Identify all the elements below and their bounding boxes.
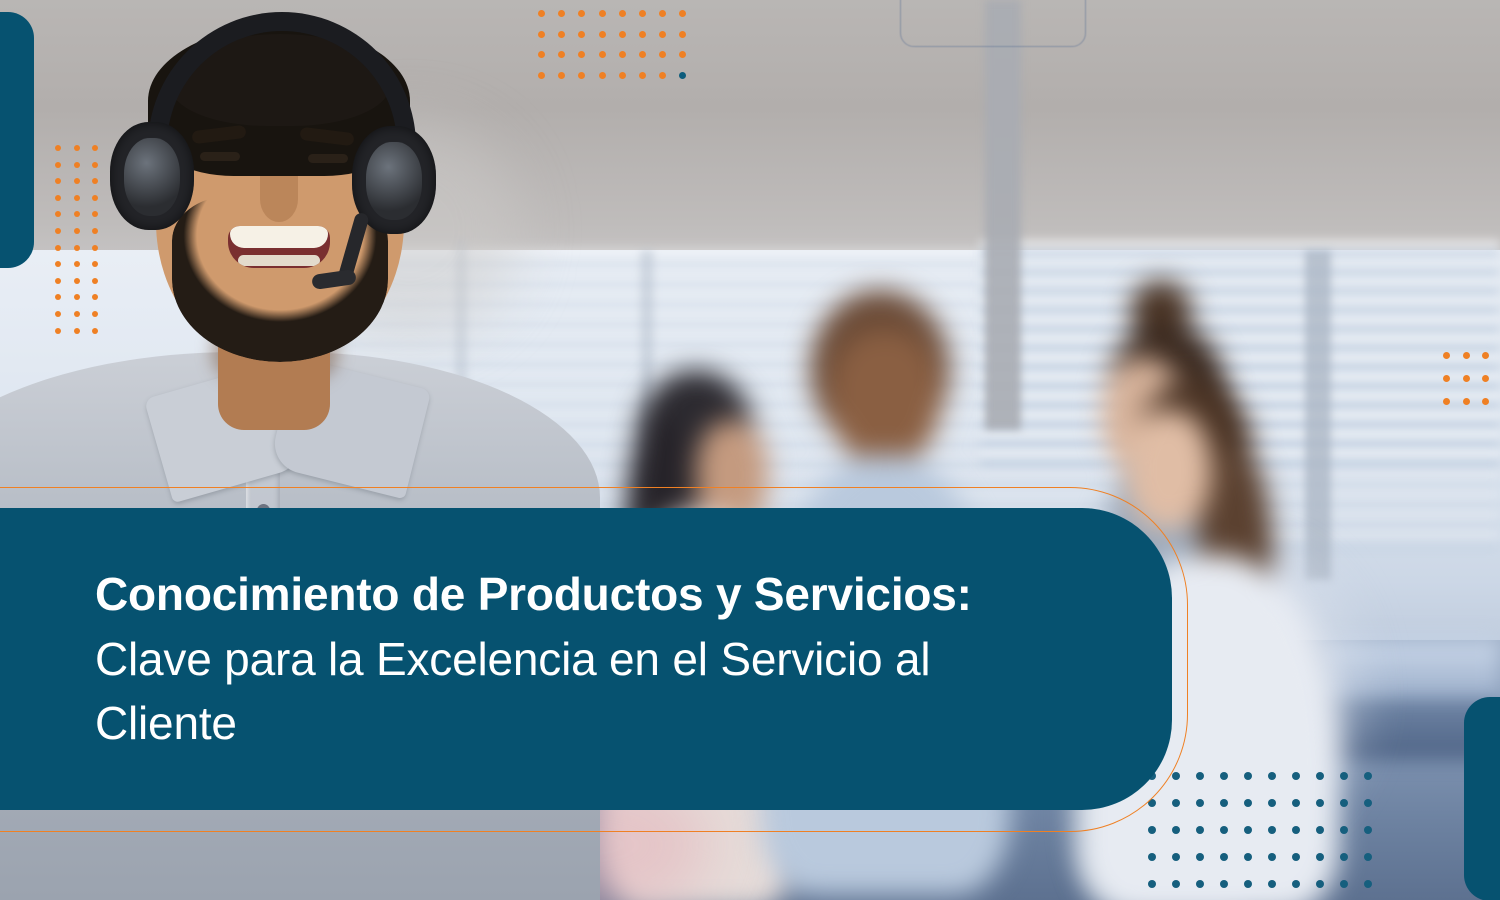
grid-dot xyxy=(1443,398,1450,405)
grid-dot xyxy=(92,328,98,334)
grid-dot xyxy=(1244,880,1252,888)
grid-dot xyxy=(1220,853,1228,861)
grid-dot xyxy=(92,278,98,284)
ceiling-fixture-outline xyxy=(900,0,1086,47)
grid-dot xyxy=(1364,799,1372,807)
grid-dot xyxy=(1316,853,1324,861)
grid-dot xyxy=(74,145,80,151)
grid-dot xyxy=(1196,772,1204,780)
grid-dot xyxy=(74,278,80,284)
grid-dot xyxy=(558,31,565,38)
subject-smile xyxy=(228,226,330,268)
grid-dot xyxy=(639,31,646,38)
grid-dot xyxy=(1244,799,1252,807)
grid-dot xyxy=(1482,352,1489,359)
grid-dot xyxy=(1292,853,1300,861)
title-banner: Conocimiento de Productos y Servicios: C… xyxy=(0,508,1172,810)
grid-dot xyxy=(1364,853,1372,861)
grid-dot xyxy=(1244,853,1252,861)
grid-dot xyxy=(1196,880,1204,888)
right-edge-teal-bar xyxy=(1464,697,1500,900)
grid-dot xyxy=(74,261,80,267)
grid-dot xyxy=(74,195,80,201)
grid-dot xyxy=(1292,826,1300,834)
grid-dot xyxy=(92,245,98,251)
grid-dot xyxy=(1443,375,1450,382)
grid-dot xyxy=(619,10,626,17)
grid-dot xyxy=(1463,375,1470,382)
grid-dot xyxy=(1172,880,1180,888)
grid-dot xyxy=(1340,799,1348,807)
grid-dot xyxy=(92,228,98,234)
grid-dot xyxy=(1196,799,1204,807)
grid-dot xyxy=(1463,352,1470,359)
grid-dot xyxy=(74,178,80,184)
grid-dot xyxy=(1340,853,1348,861)
grid-dot xyxy=(558,72,565,79)
grid-dot xyxy=(619,31,626,38)
grid-dot xyxy=(679,31,686,38)
grid-dot xyxy=(639,72,646,79)
grid-dot xyxy=(1292,880,1300,888)
grid-dot xyxy=(1196,853,1204,861)
grid-dot xyxy=(1482,398,1489,405)
grid-dot xyxy=(74,228,80,234)
grid-dot xyxy=(1244,772,1252,780)
grid-dot xyxy=(74,245,80,251)
grid-dot xyxy=(599,10,606,17)
grid-dot xyxy=(1220,880,1228,888)
grid-dot xyxy=(659,31,666,38)
grid-dot xyxy=(619,72,626,79)
grid-dot xyxy=(599,31,606,38)
grid-dot xyxy=(1364,880,1372,888)
grid-dot xyxy=(74,162,80,168)
grid-dot xyxy=(1268,826,1276,834)
grid-dot xyxy=(1172,853,1180,861)
grid-dot xyxy=(1482,375,1489,382)
grid-dot xyxy=(599,51,606,58)
grid-dot xyxy=(1244,826,1252,834)
grid-dot xyxy=(55,195,61,201)
grid-dot xyxy=(1364,772,1372,780)
page-title-bold: Conocimiento de Productos y Servicios: xyxy=(95,568,972,620)
grid-dot xyxy=(659,72,666,79)
grid-dot xyxy=(92,195,98,201)
grid-dot xyxy=(1148,826,1156,834)
grid-dot xyxy=(1220,799,1228,807)
grid-dot xyxy=(55,311,61,317)
grid-dot xyxy=(1268,799,1276,807)
grid-dot xyxy=(1172,826,1180,834)
grid-dot xyxy=(1292,799,1300,807)
grid-dot xyxy=(1148,799,1156,807)
headset-earcup-left xyxy=(110,122,194,230)
grid-dot xyxy=(1463,398,1470,405)
top-left-teal-bar xyxy=(0,12,34,268)
grid-dot xyxy=(1268,853,1276,861)
grid-dot xyxy=(1148,880,1156,888)
grid-dot xyxy=(1340,880,1348,888)
grid-dot xyxy=(1172,772,1180,780)
grid-dot xyxy=(55,278,61,284)
grid-dot xyxy=(1148,853,1156,861)
grid-dot xyxy=(578,31,585,38)
grid-dot xyxy=(74,211,80,217)
grid-dot xyxy=(1196,826,1204,834)
grid-dot xyxy=(1340,826,1348,834)
grid-dot xyxy=(1364,826,1372,834)
grid-dot xyxy=(1268,880,1276,888)
grid-dot xyxy=(1443,352,1450,359)
grid-dot xyxy=(1316,772,1324,780)
grid-dot xyxy=(55,328,61,334)
grid-dot xyxy=(92,145,98,151)
grid-dot xyxy=(55,145,61,151)
grid-dot xyxy=(538,31,545,38)
grid-dot xyxy=(1220,772,1228,780)
grid-dot xyxy=(1316,826,1324,834)
grid-dot xyxy=(55,228,61,234)
grid-dot xyxy=(1172,799,1180,807)
grid-dot xyxy=(92,162,98,168)
grid-dot xyxy=(55,162,61,168)
grid-dot xyxy=(1292,772,1300,780)
page-title-regular: Clave para la Excelencia en el Servicio … xyxy=(95,633,930,749)
grid-dot xyxy=(1316,880,1324,888)
grid-dot xyxy=(92,311,98,317)
grid-dot xyxy=(74,294,80,300)
grid-dot xyxy=(599,72,606,79)
grid-dot xyxy=(538,10,545,17)
grid-dot xyxy=(1268,772,1276,780)
grid-dot xyxy=(1340,772,1348,780)
grid-dot xyxy=(619,51,626,58)
grid-dot xyxy=(639,10,646,17)
grid-dot xyxy=(1316,799,1324,807)
grid-dot xyxy=(55,245,61,251)
page-title: Conocimiento de Productos y Servicios: C… xyxy=(0,562,1130,755)
grid-dot xyxy=(538,72,545,79)
hero-banner: Conocimiento de Productos y Servicios: C… xyxy=(0,0,1500,900)
grid-dot xyxy=(1220,826,1228,834)
grid-dot xyxy=(74,311,80,317)
grid-dot xyxy=(74,328,80,334)
